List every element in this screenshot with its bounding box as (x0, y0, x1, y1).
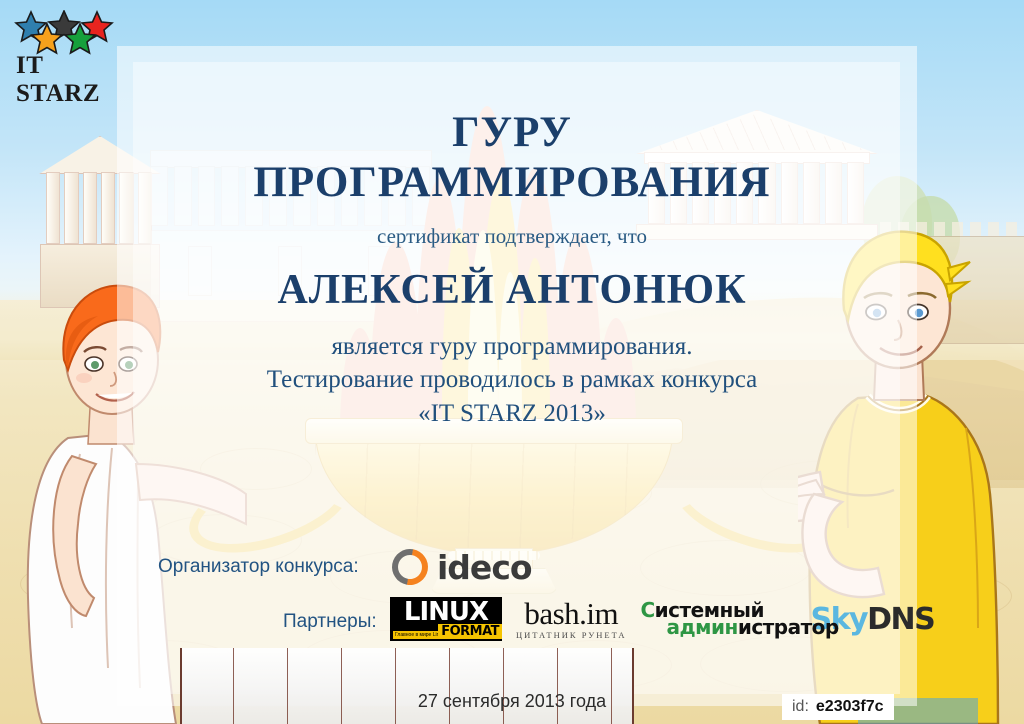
ideco-logo-text: ideco (437, 548, 532, 587)
linux-format-logo: LINUX Главное в мире Linux FORMAT (390, 597, 502, 641)
certificate-content: ГУРУ ПРОГРАММИРОВАНИЯ сертификат подтвер… (0, 0, 1024, 724)
brand-logo[interactable]: IT STARZ (14, 10, 118, 88)
partners-label: Партнеры: (283, 611, 377, 633)
linux-format-main-text: LINUX (404, 597, 488, 626)
certificate-body-line1: является гуру программирования. (0, 333, 1024, 361)
brand-name: IT STARZ (16, 52, 118, 108)
sysadmin-line2: администратор (666, 615, 838, 639)
certificate-body-line2: Тестирование проводилось в рамках конкур… (0, 366, 1024, 394)
skydns-part2: DNS (867, 602, 934, 637)
certificate-canvas: ГУРУ ПРОГРАММИРОВАНИЯ сертификат подтвер… (0, 0, 1024, 724)
five-stars-icon (14, 10, 118, 56)
certificate-title-line2: ПРОГРАММИРОВАНИЯ (0, 158, 1024, 207)
certificate-title-line1: ГУРУ (0, 108, 1024, 157)
linux-format-badge: FORMAT (438, 624, 502, 639)
id-label: id: (792, 698, 809, 716)
recipient-name: АЛЕКСЕЙ АНТОНЮК (0, 266, 1024, 314)
ideco-logo: ideco (392, 545, 532, 589)
bash-im-main-text: bash.im (524, 598, 618, 629)
certificate-body-line3: «IT STARZ 2013» (0, 400, 1024, 428)
organizer-label: Организатор конкурса: (158, 556, 359, 578)
sistemny-administrator-logo: Системный администратор (640, 598, 796, 640)
id-badge: id: e2303f7c (782, 694, 894, 720)
certificate-subtitle: сертификат подтверждает, что (0, 224, 1024, 249)
bash-im-logo: bash.im ЦИТАТНИК РУНЕТА (516, 598, 626, 640)
id-value: e2303f7c (816, 698, 884, 716)
bash-im-tagline: ЦИТАТНИК РУНЕТА (516, 631, 626, 640)
partner-logos: LINUX Главное в мире Linux FORMAT bash.i… (390, 595, 934, 643)
ideco-ring-icon (385, 542, 435, 592)
